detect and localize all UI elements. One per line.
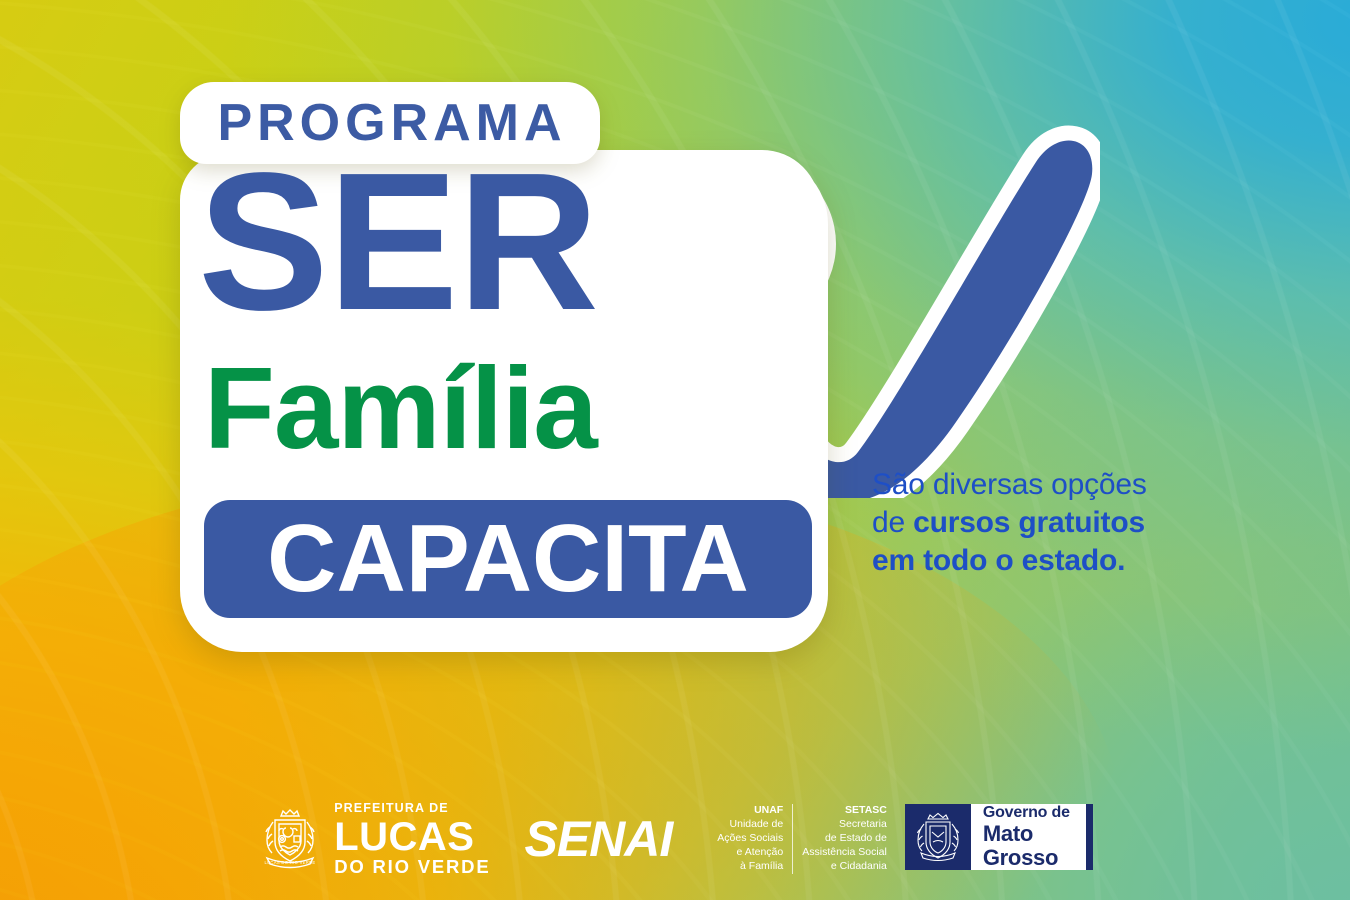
government-logo-group: UNAF Unidade de Ações Sociais e Atenção … xyxy=(708,804,1093,873)
tagline-line-1: São diversas opções xyxy=(872,466,1272,504)
unaf-line-1: Unidade de xyxy=(717,818,783,832)
setasc-line-1: Secretaria xyxy=(802,818,887,832)
program-logo-lockup: PROGRAMA SER Família CAPACITA xyxy=(172,82,844,662)
mato-grosso-crest-icon xyxy=(905,804,971,870)
unaf-line-2: Ações Sociais xyxy=(717,832,783,846)
lucas-do-rio-verde-crest-icon: LUCAS DO RIO VERDE xyxy=(257,806,323,872)
tagline-line-2-bold: cursos gratuitos xyxy=(913,506,1145,539)
tagline-line-2: de cursos gratuitos xyxy=(872,504,1272,542)
poster-canvas: PROGRAMA SER Família CAPACITA São divers… xyxy=(0,0,1350,900)
prefeitura-prefix: PREFEITURA DE xyxy=(334,802,490,815)
setasc-acronym: SETASC xyxy=(802,804,887,818)
tagline: São diversas opções de cursos gratuitos … xyxy=(872,466,1272,580)
setasc-line-3: Assistência Social xyxy=(802,846,887,860)
tagline-line-3-bold: em todo o estado. xyxy=(872,544,1125,577)
logo-unaf: UNAF Unidade de Ações Sociais e Atenção … xyxy=(708,804,793,873)
logo-governo-mato-grosso: Governo de Mato Grosso xyxy=(905,804,1093,870)
unaf-line-4: à Família xyxy=(717,860,783,874)
governo-mt-accent-bar xyxy=(1086,804,1093,870)
logo-senai: SENAI xyxy=(524,814,672,864)
logo-word-ser: SER xyxy=(198,144,598,340)
lucas-crest-banner-text: LUCAS DO RIO VERDE xyxy=(265,860,316,865)
logo-word-capacita: CAPACITA xyxy=(267,511,749,607)
governo-mt-line-2: Mato xyxy=(983,823,1070,845)
capacita-pill: CAPACITA xyxy=(204,500,812,618)
footer-logo-bar: LUCAS DO RIO VERDE PREFEITURA DE LUCAS D… xyxy=(0,796,1350,882)
unaf-line-3: e Atenção xyxy=(717,846,783,860)
logo-setasc: SETASC Secretaria de Estado de Assistênc… xyxy=(793,804,896,873)
unaf-acronym: UNAF xyxy=(717,804,783,818)
setasc-line-4: e Cidadania xyxy=(802,860,887,874)
governo-mt-line-1: Governo de xyxy=(983,805,1070,821)
tagline-line-3: em todo o estado. xyxy=(872,542,1272,580)
tagline-line-2-plain: de xyxy=(872,506,913,539)
logo-word-familia: Família xyxy=(204,350,597,466)
setasc-line-2: de Estado de xyxy=(802,832,887,846)
prefeitura-city-suffix: DO RIO VERDE xyxy=(334,858,490,877)
governo-mt-line-3: Grosso xyxy=(983,847,1070,869)
logo-prefeitura-lucas-do-rio-verde: LUCAS DO RIO VERDE PREFEITURA DE LUCAS D… xyxy=(257,802,490,876)
prefeitura-city-name: LUCAS xyxy=(334,818,490,856)
